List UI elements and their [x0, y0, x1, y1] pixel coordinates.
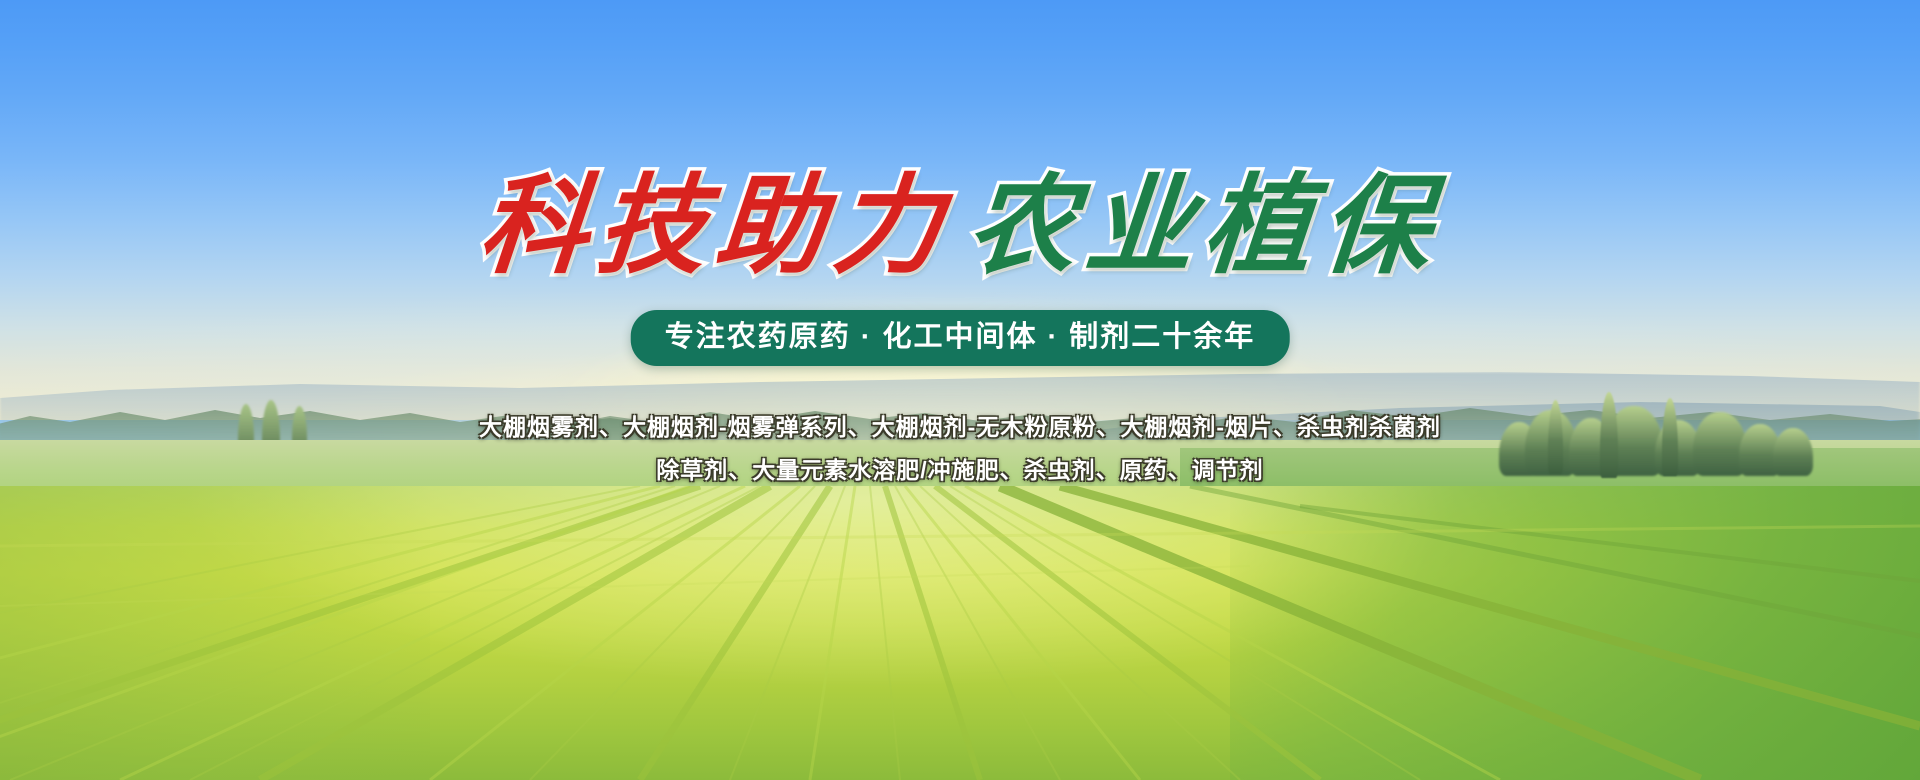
field-furrow-lines: [0, 486, 1920, 780]
tagline-pill: 专注农药原药 · 化工中间体 · 制剂二十余年: [631, 310, 1290, 366]
product-lines: 大棚烟雾剂、大棚烟剂-烟雾弹系列、大棚烟剂-无木粉原粉、大棚烟剂-烟片、杀虫剂杀…: [0, 410, 1920, 488]
headline: 科技助力农业植保: [0, 172, 1920, 280]
product-line-2: 除草剂、大量元素水溶肥/冲施肥、杀虫剂、原药、调节剂: [0, 453, 1920, 489]
headline-red-text: 科技助力: [475, 172, 956, 280]
tagline-text: 专注农药原药 · 化工中间体 · 制剂二十余年: [665, 319, 1256, 355]
headline-green-text: 农业植保: [963, 172, 1444, 280]
hero-banner: 科技助力农业植保 专注农药原药 · 化工中间体 · 制剂二十余年 大棚烟雾剂、大…: [0, 0, 1920, 780]
product-line-1: 大棚烟雾剂、大棚烟剂-烟雾弹系列、大棚烟剂-无木粉原粉、大棚烟剂-烟片、杀虫剂杀…: [0, 410, 1920, 446]
